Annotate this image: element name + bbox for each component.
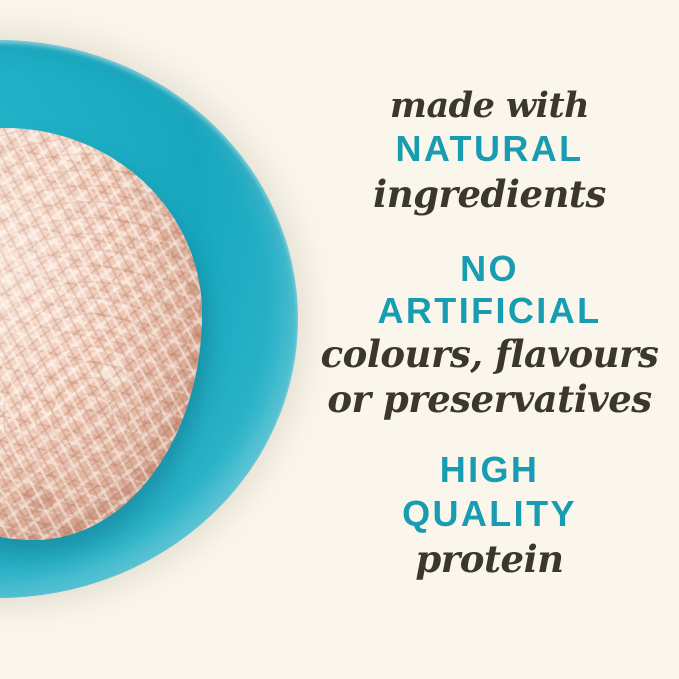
- claim-3-line-3: protein: [300, 536, 679, 583]
- claim-no-artificial-colours-flavours-preservatives: NO ARTIFICIAL colours, flavours or prese…: [300, 248, 679, 422]
- food-lighting-layer: [0, 128, 202, 540]
- claim-2-line-4: or preservatives: [300, 377, 679, 422]
- product-photo: [0, 0, 330, 679]
- claim-high-quality-protein: HIGH QUALITY protein: [300, 448, 679, 583]
- product-claims-poster: made with NATURAL ingredients NO ARTIFIC…: [0, 0, 679, 679]
- claims-column: made with NATURAL ingredients NO ARTIFIC…: [300, 0, 679, 679]
- claim-3-line-1: HIGH: [300, 448, 679, 492]
- claim-1-line-1: made with: [300, 84, 679, 127]
- claim-made-with-natural-ingredients: made with NATURAL ingredients: [300, 84, 679, 218]
- claim-1-line-3: ingredients: [300, 171, 679, 218]
- claim-2-line-3: colours, flavours: [300, 332, 679, 377]
- claim-1-line-2: NATURAL: [300, 127, 679, 171]
- food-mound: [0, 128, 210, 548]
- shredded-pate-food: [0, 128, 202, 540]
- claim-2-line-1: NO: [300, 248, 679, 290]
- claim-3-line-2: QUALITY: [300, 492, 679, 536]
- claim-2-line-2: ARTIFICIAL: [300, 290, 679, 332]
